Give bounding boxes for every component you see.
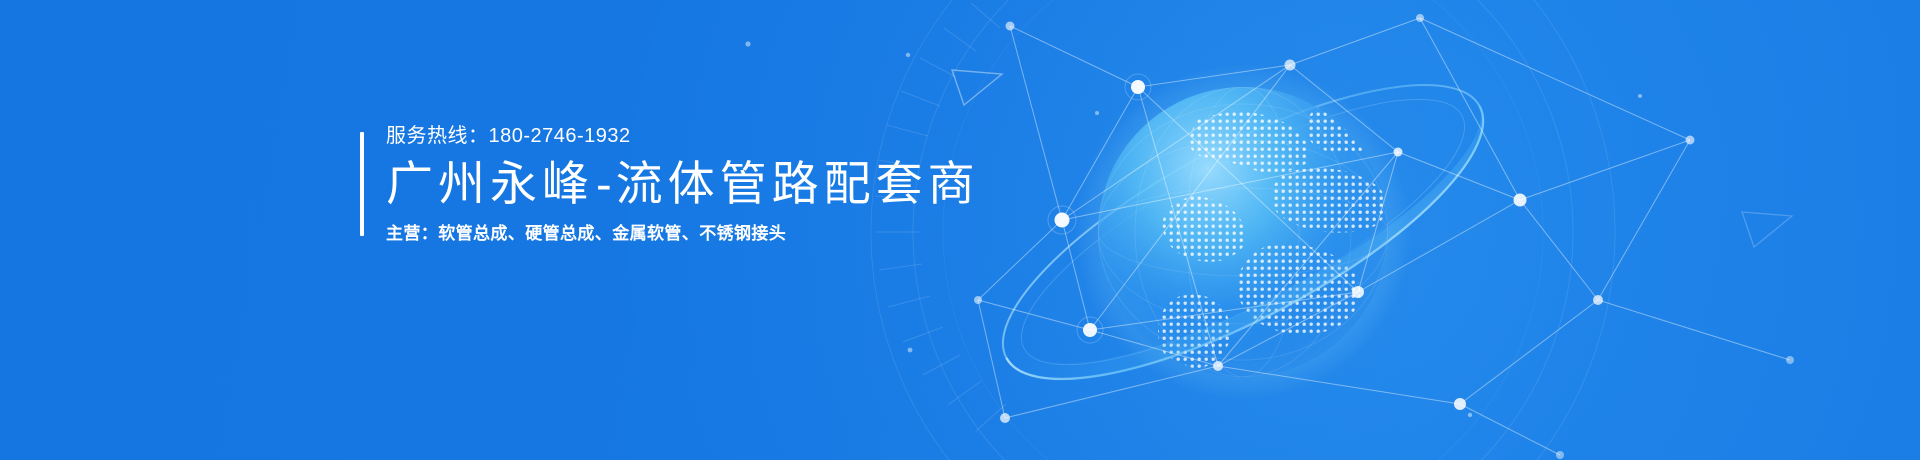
headline-dash: - [594,157,616,210]
subtitle-products: 主营：软管总成、硬管总成、金属软管、不锈钢接头 [386,225,980,242]
banner-text-block: 服务热线：180-2746-1932 广州永峰-流体管路配套商 主营：软管总成、… [360,126,980,242]
hotline-text: 服务热线：180-2746-1932 [386,126,980,146]
headline-tagline: 流体管路配套商 [616,157,980,210]
headline-company: 广州永峰 [386,157,594,210]
hero-banner: 服务热线：180-2746-1932 广州永峰-流体管路配套商 主营：软管总成、… [0,0,1920,460]
accent-bar [360,132,364,236]
page-title: 广州永峰-流体管路配套商 [386,158,980,211]
